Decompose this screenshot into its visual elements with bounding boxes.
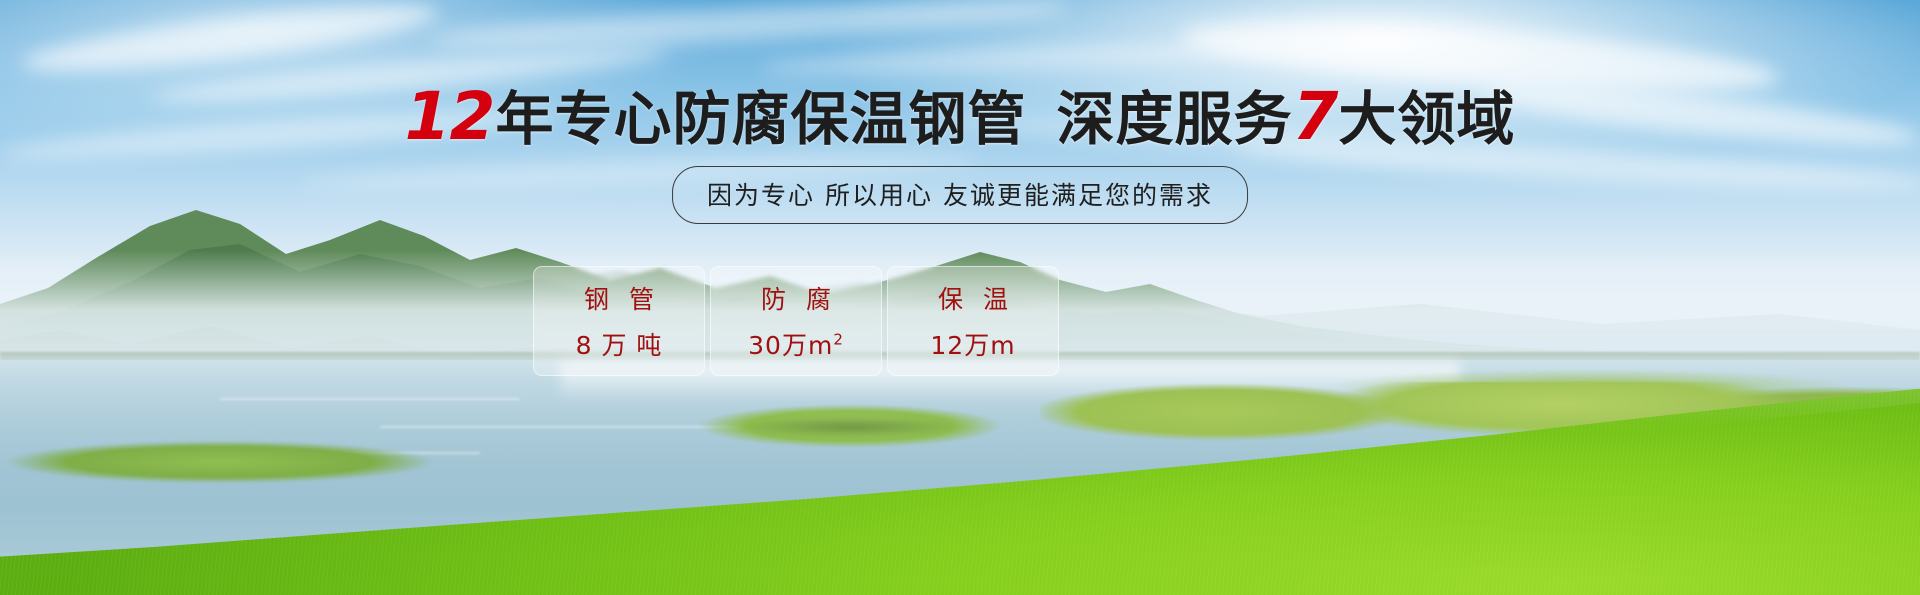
headline-segment-three: 大领域	[1338, 85, 1515, 153]
stat-card-value-text: 8 万 吨	[576, 331, 663, 360]
banner-content: 12年专心防腐保温钢管深度服务7大领域 因为专心 所以用心 友诚更能满足您的需求…	[0, 0, 1920, 595]
headline: 12年专心防腐保温钢管深度服务7大领域	[0, 84, 1920, 150]
headline-segment-one: 年专心防腐保温钢管	[495, 85, 1026, 153]
stat-card-title: 保 温	[932, 280, 1014, 316]
stat-card-anticorrosion[interactable]: 防 腐 30万m2	[710, 266, 882, 376]
stat-card-value: 8 万 吨	[576, 326, 663, 362]
stat-card-title: 防 腐	[755, 280, 837, 316]
stat-card-value: 30万m2	[748, 326, 844, 362]
stat-card-group: 钢 管 8 万 吨 防 腐 30万m2 保 温 12万m	[533, 266, 1059, 376]
subtitle-pill: 因为专心 所以用心 友诚更能满足您的需求	[672, 166, 1248, 224]
headline-segment-two: 深度服务	[1056, 85, 1292, 153]
hero-banner: 12年专心防腐保温钢管深度服务7大领域 因为专心 所以用心 友诚更能满足您的需求…	[0, 0, 1920, 595]
stat-card-value: 12万m	[930, 326, 1015, 362]
headline-fields-number: 7	[1292, 78, 1337, 155]
stat-card-steel-pipe[interactable]: 钢 管 8 万 吨	[533, 266, 705, 376]
headline-years-number: 12	[405, 78, 495, 155]
stat-card-value-text: 30万m	[748, 331, 833, 360]
stat-card-title: 钢 管	[578, 280, 660, 316]
stat-card-insulation[interactable]: 保 温 12万m	[887, 266, 1059, 376]
stat-card-value-superscript: 2	[833, 331, 844, 349]
stat-card-value-text: 12万m	[930, 331, 1015, 360]
